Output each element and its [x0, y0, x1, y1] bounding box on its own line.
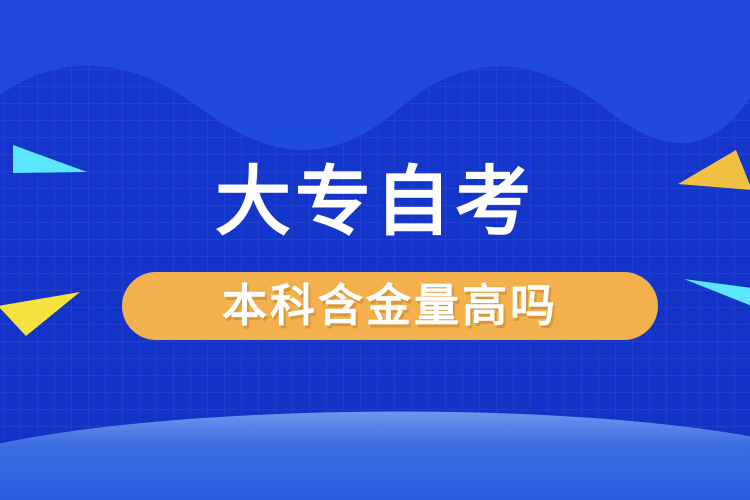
subtitle-text: 本科含金量高吗 — [222, 281, 558, 331]
banner-content: 大专自考 本科含金量高吗 — [0, 0, 750, 500]
banner-headline: 大专自考 — [0, 158, 750, 248]
promo-banner: 大专自考 本科含金量高吗 — [0, 0, 750, 500]
subtitle-pill[interactable]: 本科含金量高吗 — [122, 272, 658, 340]
